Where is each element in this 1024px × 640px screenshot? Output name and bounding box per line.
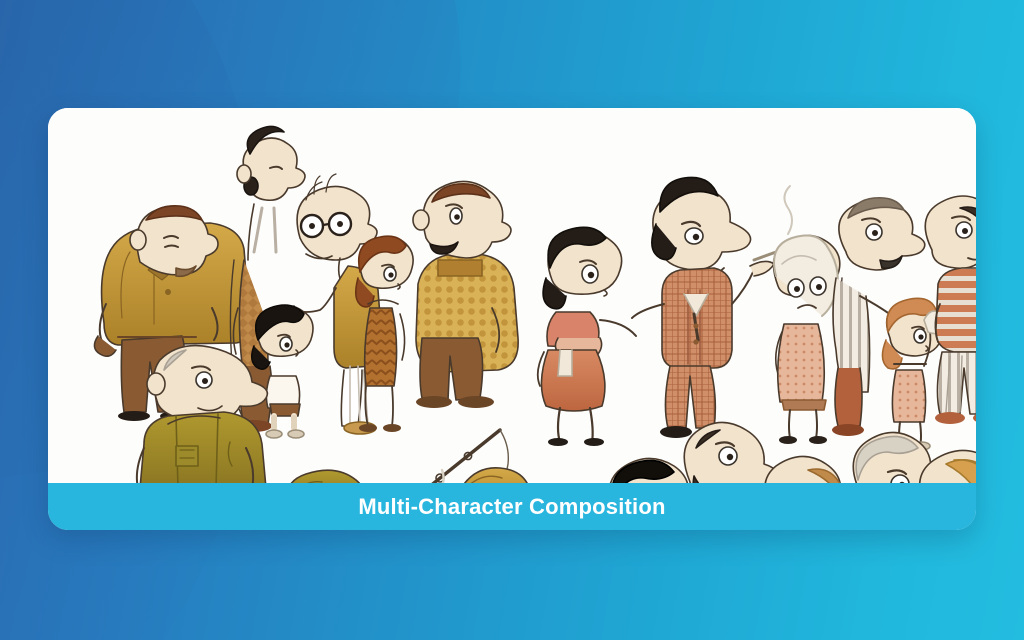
slide-stage: Multi-Character Composition (0, 0, 1024, 640)
caption-bar: Multi-Character Composition (48, 483, 976, 530)
image-card: Multi-Character Composition (48, 108, 976, 530)
caption-label: Multi-Character Composition (358, 494, 665, 520)
character-illustration (48, 108, 976, 483)
